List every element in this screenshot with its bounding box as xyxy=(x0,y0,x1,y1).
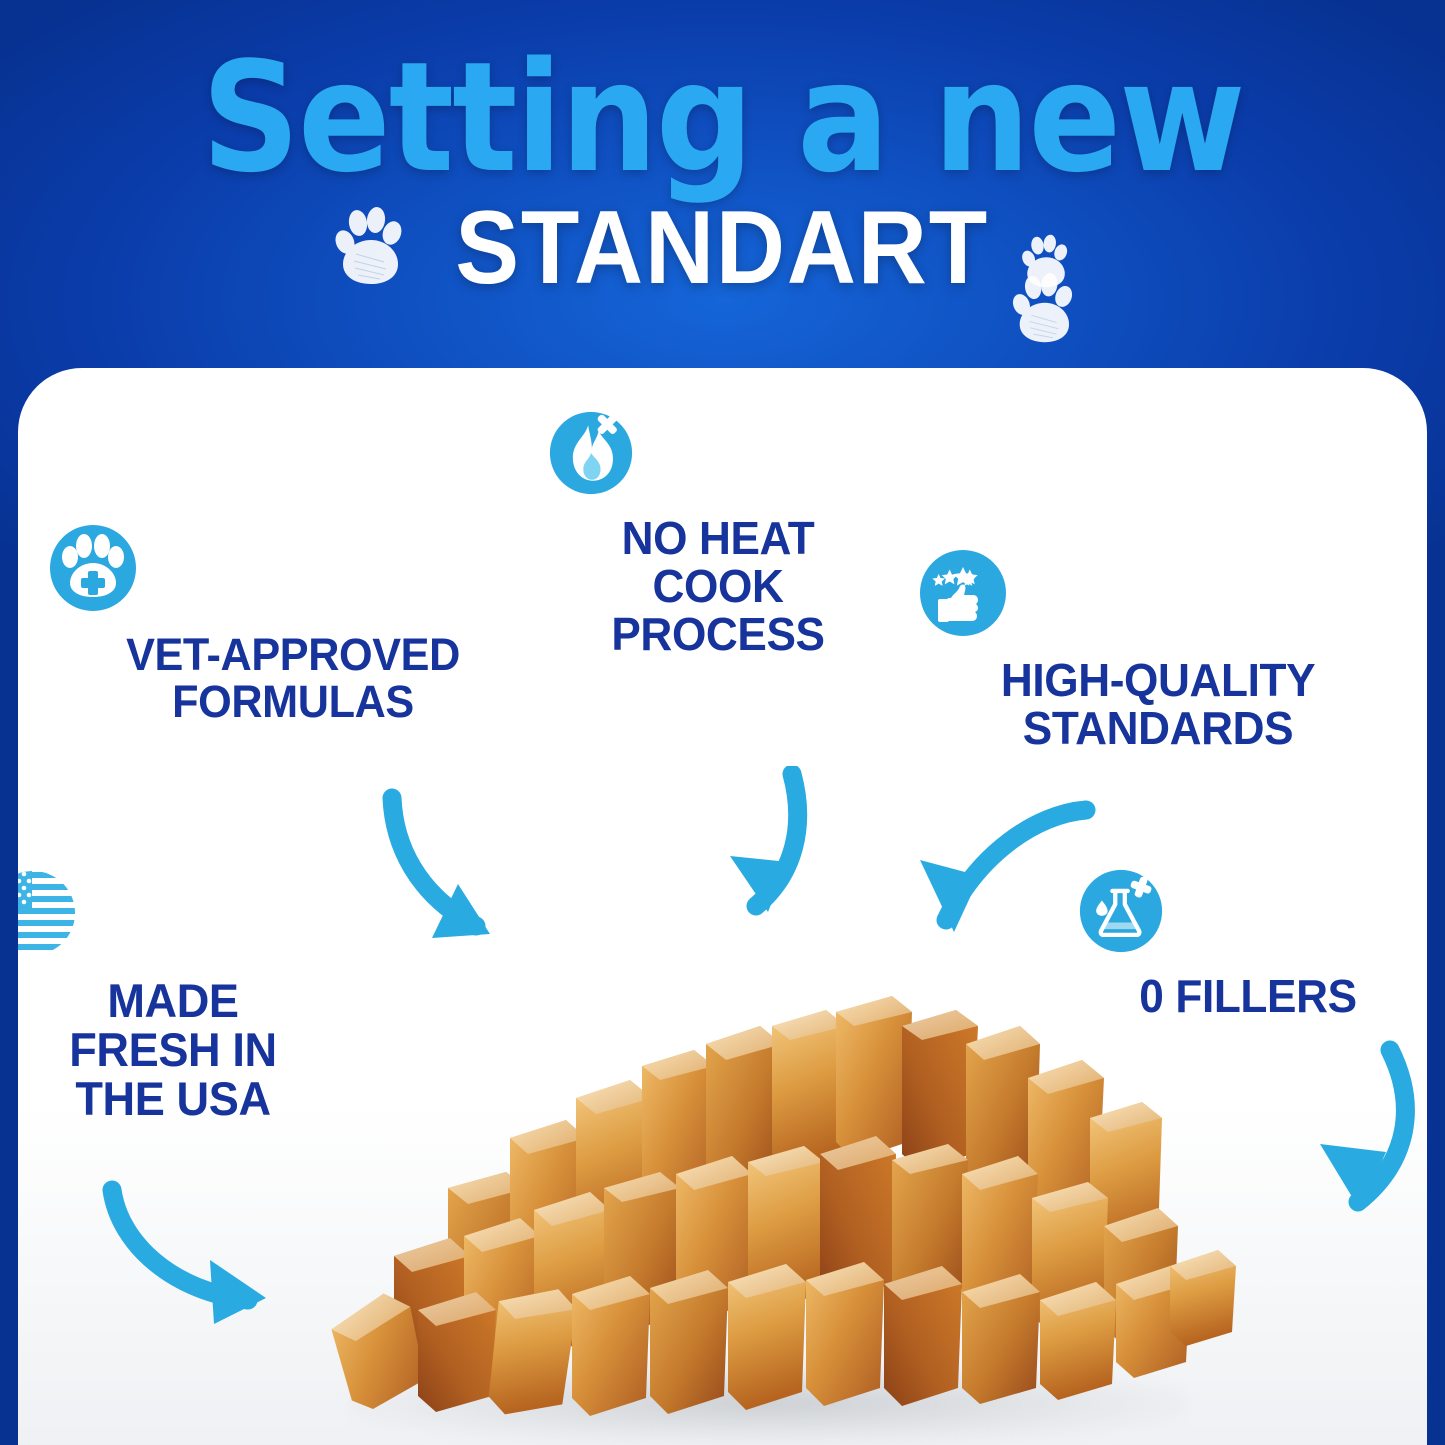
subtitle-row: STANDART xyxy=(0,196,1445,300)
paw-medical-cross-icon xyxy=(48,523,538,618)
usa-flag-circle-icon xyxy=(18,868,358,963)
feature-label: 0 FILLERS xyxy=(1085,973,1411,1021)
curved-arrow-down-right-icon xyxy=(98,1176,288,1341)
paw-print-icon xyxy=(330,206,408,288)
paw-print-icon xyxy=(1008,272,1078,346)
feature-label: MADE FRESH IN THE USA xyxy=(18,977,351,1124)
feature-label: NO HEAT COOK PROCESS xyxy=(555,515,881,658)
feature-label: HIGH-QUALITY STANDARDS xyxy=(928,657,1389,753)
feature-label: VET-APPROVED FORMULAS xyxy=(58,632,528,726)
feature-no-heat-cook[interactable]: NO HEAT COOK PROCESS xyxy=(548,410,888,658)
curved-arrow-down-left-icon xyxy=(714,766,834,941)
feature-high-quality-standards[interactable]: HIGH-QUALITY STANDARDS xyxy=(918,548,1398,753)
curved-arrow-down-left-icon xyxy=(1300,1040,1427,1235)
flask-no-chemicals-icon xyxy=(1078,868,1418,959)
curved-arrow-down-left-icon xyxy=(908,796,1098,956)
page-title: Setting a new xyxy=(0,40,1445,195)
feature-made-in-usa[interactable]: MADE FRESH IN THE USA xyxy=(18,868,358,1124)
page-subtitle: STANDART xyxy=(456,196,990,300)
thumbs-up-five-stars-icon xyxy=(918,548,1398,643)
header-banner: Setting a new STANDART xyxy=(0,0,1445,380)
flame-no-heat-icon xyxy=(548,410,888,501)
curved-arrow-down-right-icon xyxy=(370,786,570,971)
feature-card: VET-APPROVED FORMULAS NO HEAT COOK PROCE… xyxy=(18,368,1427,1445)
feature-vet-approved[interactable]: VET-APPROVED FORMULAS xyxy=(48,523,538,726)
feature-zero-fillers[interactable]: 0 FILLERS xyxy=(1078,868,1418,1021)
infographic-canvas: Setting a new STANDART xyxy=(0,0,1445,1445)
